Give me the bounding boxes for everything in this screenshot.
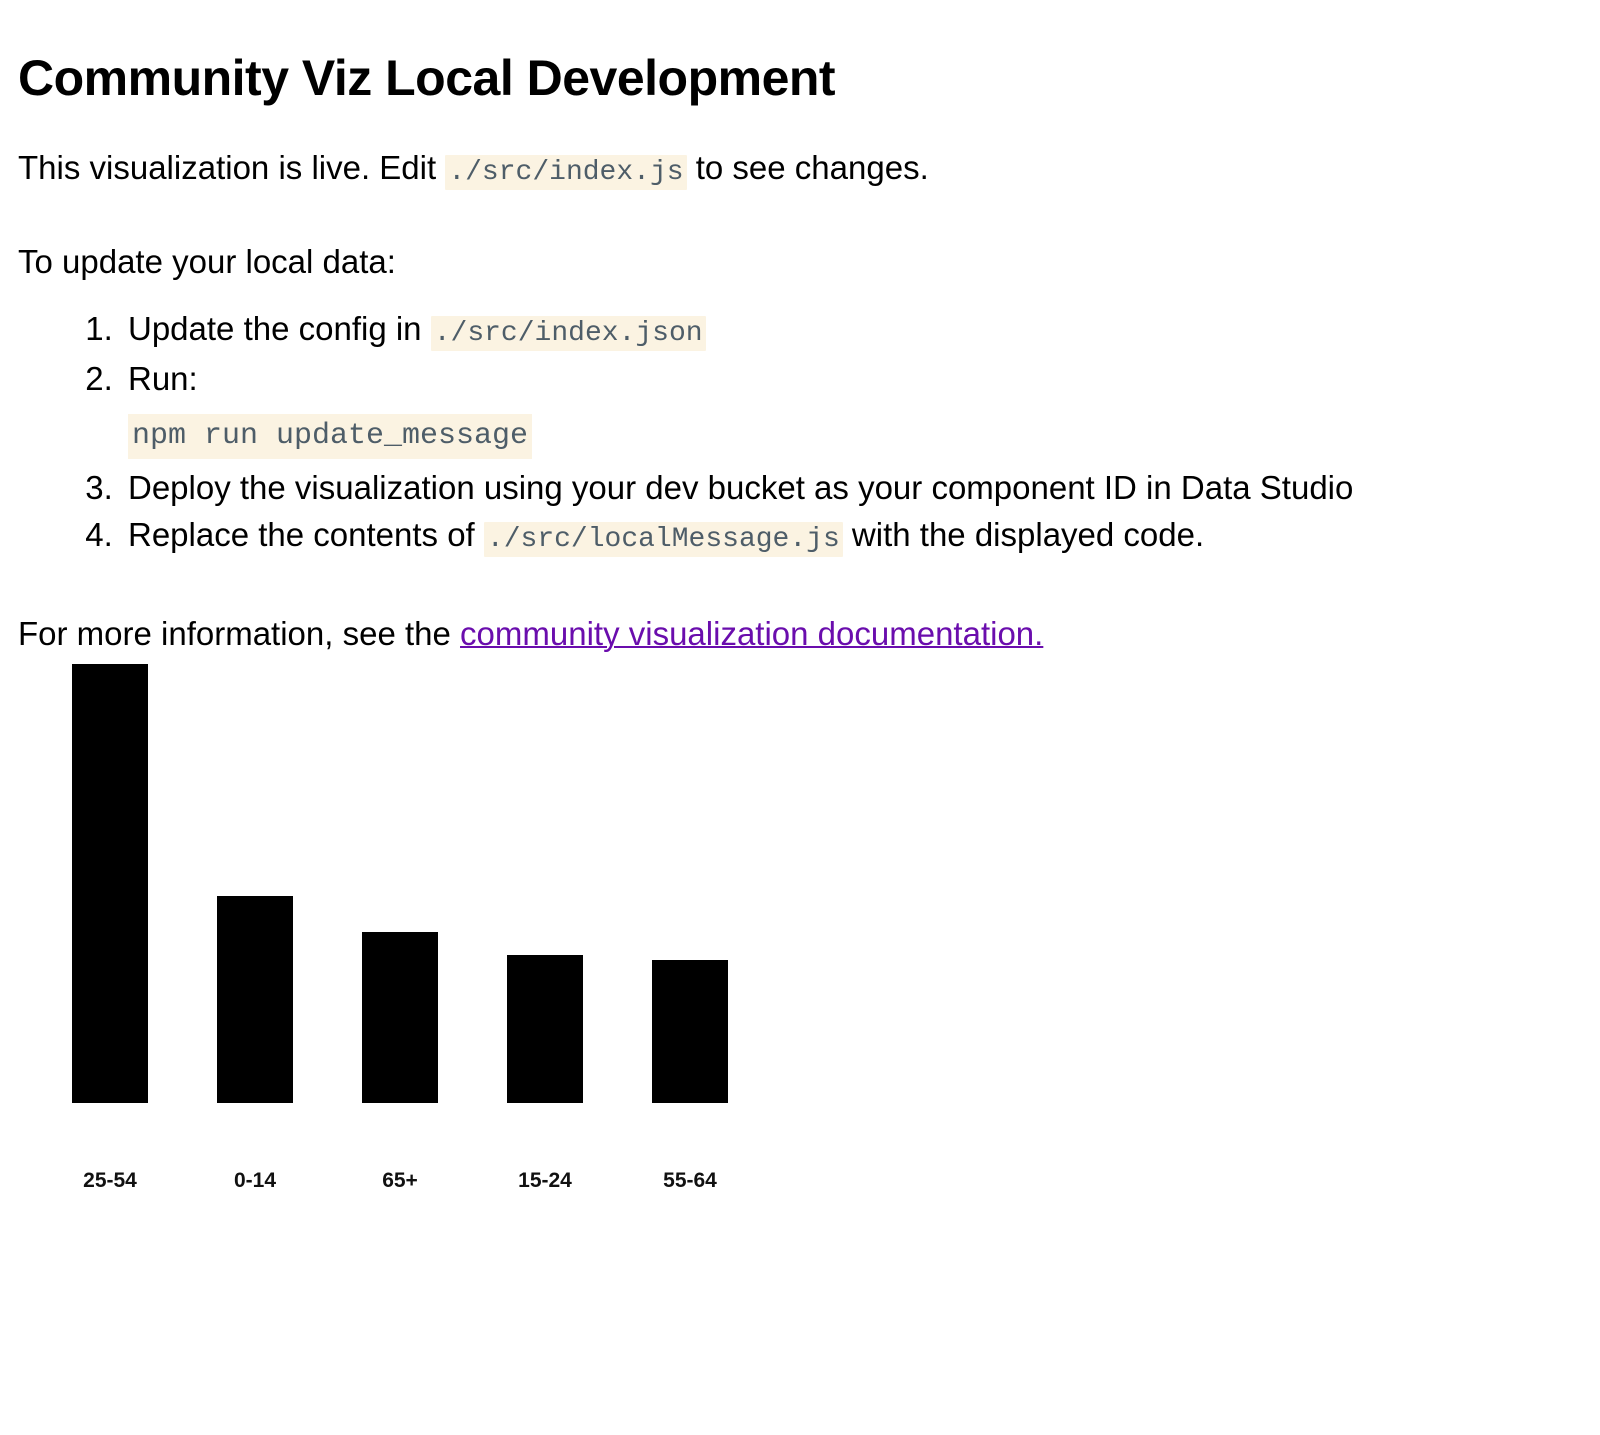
update-prompt-paragraph: To update your local data: (18, 240, 1582, 285)
bar-column (72, 643, 148, 1103)
intro-code-path: ./src/index.js (445, 155, 686, 190)
bar-column (217, 643, 293, 1103)
list-item: Update the config in ./src/index.json (122, 306, 1582, 354)
steps-list: Update the config in ./src/index.json Ru… (18, 306, 1582, 560)
bar-axis-label: 0-14 (217, 1169, 293, 1193)
list-item: Run:npm run update_message (122, 356, 1582, 459)
bar-rect[interactable] (507, 955, 583, 1103)
bar-column (362, 643, 438, 1103)
step-3-text: Deploy the visualization using your dev … (128, 469, 1353, 506)
bar-rect[interactable] (652, 960, 728, 1103)
list-item: Replace the contents of ./src/localMessa… (122, 512, 1582, 560)
list-item: Deploy the visualization using your dev … (122, 465, 1582, 511)
page-container: Community Viz Local Development This vis… (0, 0, 1600, 1223)
bar-rect[interactable] (362, 932, 438, 1103)
bar-column (652, 643, 728, 1103)
step-4-text-before: Replace the contents of (128, 516, 484, 553)
intro-text-before: This visualization is live. Edit (18, 149, 445, 186)
step-4-code-path: ./src/localMessage.js (484, 522, 843, 557)
bar-rect[interactable] (72, 664, 148, 1103)
chart-plot-area: 25-540-1465+15-2455-64 (54, 703, 814, 1163)
bar-chart: 25-540-1465+15-2455-64 (54, 703, 814, 1223)
bar-axis-label: 25-54 (72, 1169, 148, 1193)
step-2-text-before: Run: (128, 360, 198, 397)
step-1-code-path: ./src/index.json (431, 316, 706, 351)
bar-axis-label: 55-64 (652, 1169, 728, 1193)
intro-paragraph: This visualization is live. Edit ./src/i… (18, 146, 1582, 192)
step-2-command-block: npm run update_message (128, 414, 532, 459)
bar-axis-label: 15-24 (507, 1169, 583, 1193)
step-1-text-before: Update the config in (128, 310, 431, 347)
step-4-text-after: with the displayed code. (843, 516, 1204, 553)
bar-axis-label: 65+ (362, 1169, 438, 1193)
bar-rect[interactable] (217, 896, 293, 1103)
intro-text-after: to see changes. (687, 149, 929, 186)
bar-column (507, 643, 583, 1103)
page-title: Community Viz Local Development (18, 0, 1582, 106)
